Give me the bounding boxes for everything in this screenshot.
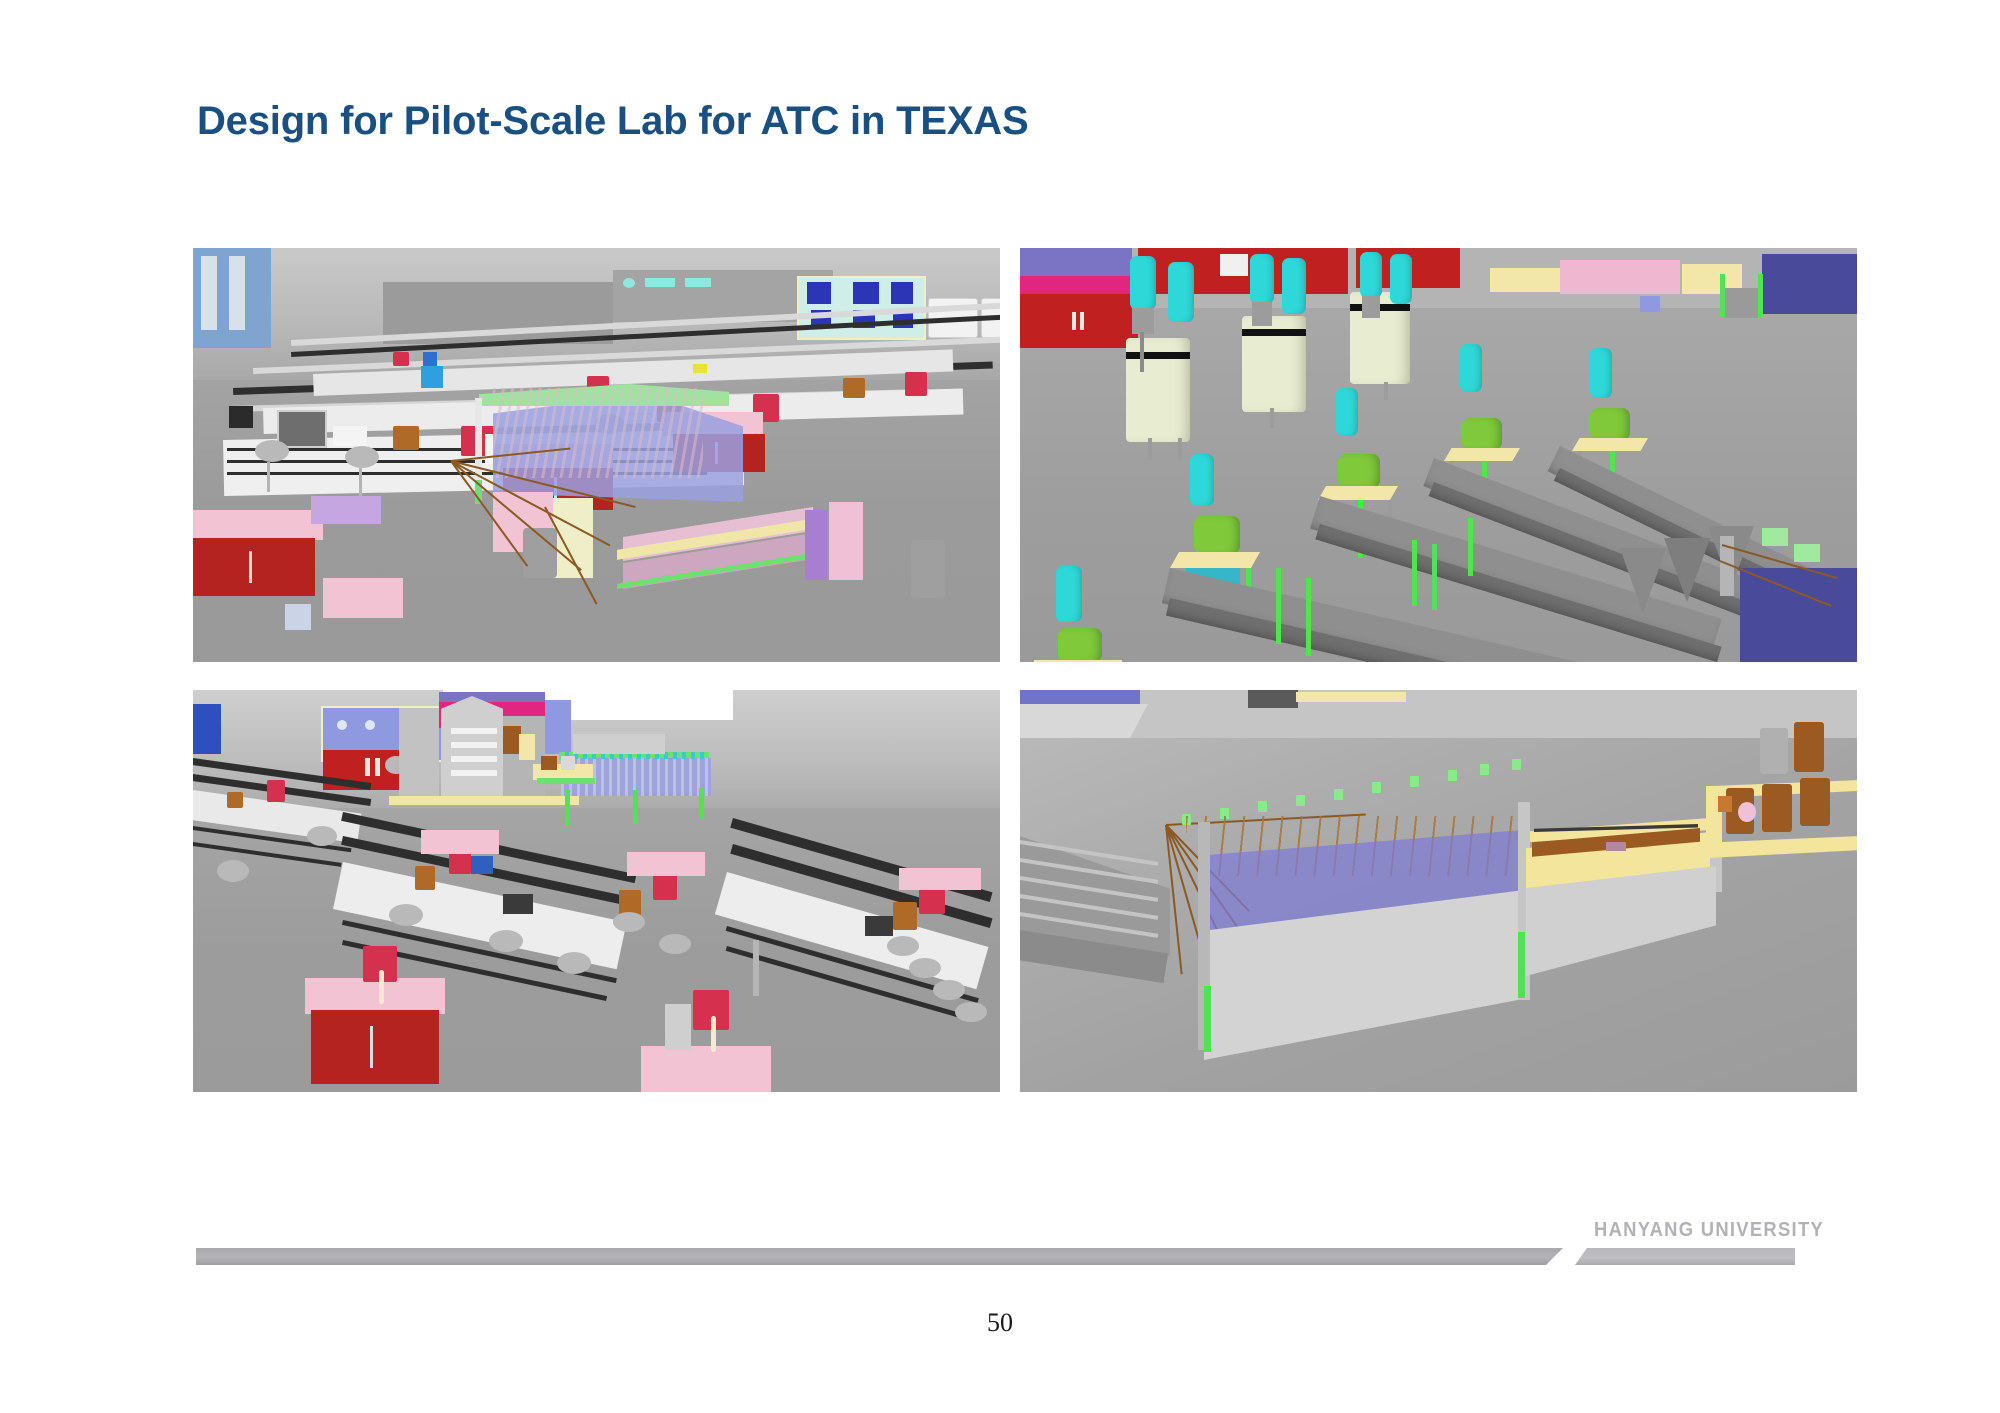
render-image-top-left	[193, 248, 1000, 662]
slide-footer	[0, 1232, 2000, 1302]
reactor-bay-scene	[1020, 248, 1857, 662]
lab-overview-scene	[193, 248, 1000, 662]
render-image-bottom-right	[1020, 690, 1857, 1092]
page-title: Design for Pilot-Scale Lab for ATC in TE…	[197, 99, 1028, 144]
university-logo-text: HANYANG UNIVERSITY	[1594, 1219, 1824, 1242]
render-image-grid	[193, 248, 1857, 1092]
lab-bench-aisles-scene	[193, 690, 1000, 1092]
footer-bar-right	[1575, 1248, 1795, 1265]
render-image-top-right	[1020, 248, 1857, 662]
render-image-bottom-left	[193, 690, 1000, 1092]
slide-canvas: Design for Pilot-Scale Lab for ATC in TE…	[0, 0, 2000, 1413]
window-wall	[193, 248, 271, 348]
footer-bar-left	[196, 1248, 1563, 1265]
page-number: 50	[0, 1308, 2000, 1338]
bag-filter-unit-scene	[1020, 690, 1857, 1092]
